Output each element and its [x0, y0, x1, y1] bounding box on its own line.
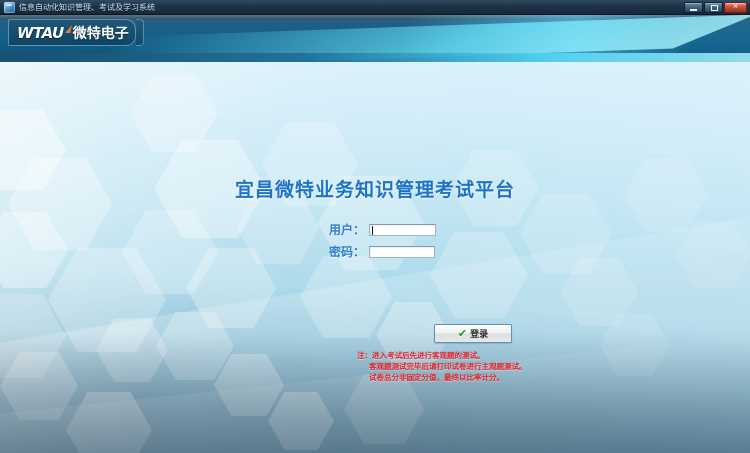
login-note-2: 客观题测试完毕后请打印试卷进行主观题测试。	[357, 361, 687, 372]
green-check-icon: ✔	[458, 328, 467, 339]
login-form: 宜昌微特业务知识管理考试平台 用户： 密码： ✔ 登录 注：进入考试后先进行客观…	[0, 62, 750, 453]
username-row: 用户：	[312, 221, 436, 238]
login-note-3: 试卷总分非固定分值，最终以比率计分。	[357, 372, 687, 383]
page-title: 宜昌微特业务知识管理考试平台	[0, 175, 750, 202]
brand-chinese-text: 微特电子	[73, 23, 129, 43]
username-input[interactable]	[369, 224, 436, 236]
login-notes: 注：进入考试后先进行客观题的测试。 客观题测试完毕后请打印试卷进行主观题测试。 …	[357, 350, 687, 383]
password-row: 密码：	[312, 243, 435, 260]
header-highlight-c	[0, 53, 750, 62]
username-label: 用户：	[312, 221, 365, 238]
window-title: 信息自动化知识管理、考试及学习系统	[19, 0, 155, 15]
text-caret	[372, 226, 373, 235]
app-window-icon	[4, 2, 15, 13]
login-submit-button[interactable]: ✔ 登录	[434, 324, 512, 343]
maximize-button[interactable]	[704, 2, 723, 13]
brand-logo: WTAU 微特电子	[8, 19, 136, 46]
window-controls: ✕	[684, 2, 750, 13]
close-button[interactable]: ✕	[724, 2, 747, 13]
login-submit-label: 登录	[470, 327, 488, 340]
brand-plate-tab	[136, 19, 144, 46]
brand-wtau-text: WTAU	[17, 24, 64, 42]
login-note-1: 注：进入考试后先进行客观题的测试。	[357, 350, 687, 361]
password-input[interactable]	[369, 246, 435, 258]
password-label: 密码：	[312, 243, 365, 260]
orange-triangle-icon	[65, 25, 72, 33]
window-titlebar: 信息自动化知识管理、考试及学习系统 ✕	[0, 0, 750, 15]
login-background: 宜昌微特业务知识管理考试平台 用户： 密码： ✔ 登录 注：进入考试后先进行客观…	[0, 62, 750, 453]
minimize-button[interactable]	[684, 2, 703, 13]
app-window: 信息自动化知识管理、考试及学习系统 ✕ WTAU 微特电子 宜昌微特业务知识管理…	[0, 0, 750, 453]
